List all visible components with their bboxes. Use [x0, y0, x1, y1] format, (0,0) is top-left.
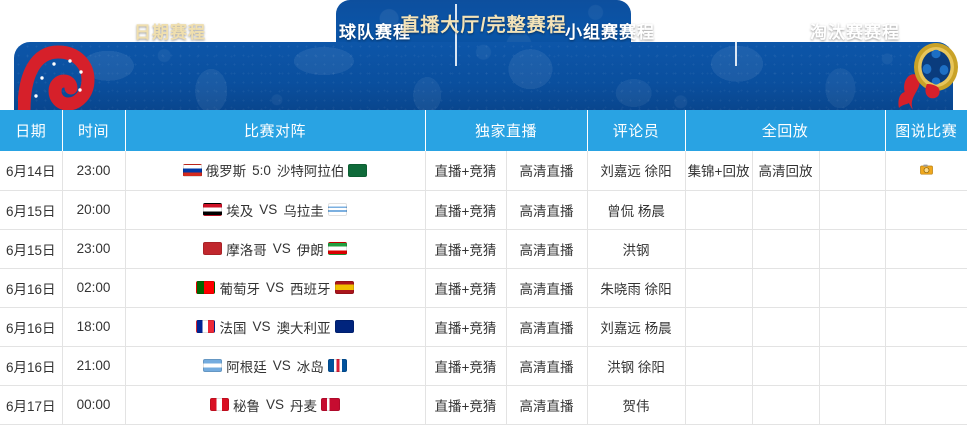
match-score: VS [257, 202, 279, 217]
cell-commentator: 洪钢 徐阳 [587, 346, 685, 385]
cell-replay-highlights-link[interactable]: 集锦+回放 [685, 151, 752, 190]
cell-commentator: 刘嘉远 杨晨 [587, 307, 685, 346]
schedule-table: 日期时间比赛对阵独家直播评论员全回放图说比赛 6月14日23:00俄罗斯5:0沙… [0, 110, 967, 425]
cell-match[interactable]: 秘鲁VS丹麦 [125, 385, 425, 424]
cell-hd-live-link[interactable]: 高清直播 [506, 190, 587, 229]
home-team-name: 葡萄牙 [219, 278, 260, 298]
cell-live-bet-link[interactable]: 直播+竞猜 [425, 229, 506, 268]
match-score: VS [271, 241, 293, 256]
cell-replay-hd-link[interactable]: 高清回放 [752, 151, 819, 190]
cell-replay-extra-link [819, 268, 885, 307]
away-team-name: 西班牙 [290, 278, 331, 298]
home-team-name: 埃及 [226, 200, 253, 220]
page-title: 直播大厅/完整赛程 [336, 10, 631, 37]
away-team-flag-icon [328, 203, 347, 216]
cell-date: 6月15日 [0, 190, 62, 229]
home-team-name: 摩洛哥 [226, 239, 267, 259]
cell-match[interactable]: 阿根廷VS冰岛 [125, 346, 425, 385]
cell-commentator: 曾侃 杨晨 [587, 190, 685, 229]
cell-replay-extra-link [819, 346, 885, 385]
cell-time: 23:00 [62, 229, 125, 268]
home-team-name: 阿根廷 [226, 356, 267, 376]
cell-replay-highlights-link [685, 229, 752, 268]
cell-match[interactable]: 葡萄牙VS西班牙 [125, 268, 425, 307]
away-team-flag-icon [321, 398, 340, 411]
cell-date: 6月14日 [0, 151, 62, 190]
table-row: 6月16日18:00法国VS澳大利亚直播+竞猜高清直播刘嘉远 杨晨 [0, 307, 967, 346]
cell-live-bet-link[interactable]: 直播+竞猜 [425, 190, 506, 229]
cell-commentator: 朱晓雨 徐阳 [587, 268, 685, 307]
world-cup-trophy-logo-icon [893, 36, 959, 110]
match-pairing: 摩洛哥VS伊朗 [126, 239, 425, 259]
away-team-name: 澳大利亚 [277, 317, 331, 337]
table-row: 6月15日23:00摩洛哥VS伊朗直播+竞猜高清直播洪钢 [0, 229, 967, 268]
cell-time: 02:00 [62, 268, 125, 307]
column-header-5: 评论员 [587, 110, 685, 151]
match-pairing: 俄罗斯5:0沙特阿拉伯 [126, 160, 425, 180]
cell-match[interactable]: 埃及VS乌拉圭 [125, 190, 425, 229]
cell-date: 6月16日 [0, 346, 62, 385]
cell-hd-live-link[interactable]: 高清直播 [506, 151, 587, 190]
cell-replay-hd-link [752, 190, 819, 229]
cell-replay-highlights-link [685, 346, 752, 385]
cell-replay-hd-link [752, 307, 819, 346]
cell-time: 23:00 [62, 151, 125, 190]
cell-photo-gallery [885, 346, 967, 385]
cell-hd-live-link[interactable]: 高清直播 [506, 346, 587, 385]
cell-date: 6月16日 [0, 307, 62, 346]
cell-match[interactable]: 摩洛哥VS伊朗 [125, 229, 425, 268]
cell-live-bet-link[interactable]: 直播+竞猜 [425, 268, 506, 307]
home-team-name: 法国 [219, 317, 246, 337]
cell-date: 6月15日 [0, 229, 62, 268]
table-body: 6月14日23:00俄罗斯5:0沙特阿拉伯直播+竞猜高清直播刘嘉远 徐阳集锦+回… [0, 151, 967, 424]
column-header-6: 全回放 [685, 110, 885, 151]
match-score: VS [250, 319, 272, 334]
away-team-name: 乌拉圭 [283, 200, 324, 220]
cell-replay-highlights-link [685, 268, 752, 307]
cell-replay-hd-link [752, 229, 819, 268]
cell-date: 6月16日 [0, 268, 62, 307]
home-team-flag-icon [183, 164, 202, 177]
table-row: 6月16日02:00葡萄牙VS西班牙直播+竞猜高清直播朱晓雨 徐阳 [0, 268, 967, 307]
home-team-flag-icon [210, 398, 229, 411]
table-header-row: 日期时间比赛对阵独家直播评论员全回放图说比赛 [0, 110, 967, 151]
cell-replay-highlights-link [685, 307, 752, 346]
match-score: VS [264, 280, 286, 295]
cell-photo-gallery [885, 190, 967, 229]
cell-hd-live-link[interactable]: 高清直播 [506, 385, 587, 424]
match-pairing: 法国VS澳大利亚 [126, 317, 425, 337]
page-banner: 直播大厅/完整赛程 日期赛程球队赛程小组赛赛程淘汰赛赛程 [0, 0, 967, 110]
match-score: VS [264, 397, 286, 412]
column-header-3: 比赛对阵 [125, 110, 425, 151]
banner-pattern-texture [14, 42, 953, 110]
match-pairing: 埃及VS乌拉圭 [126, 200, 425, 220]
away-team-name: 冰岛 [297, 356, 324, 376]
table-row: 6月17日00:00秘鲁VS丹麦直播+竞猜高清直播贺伟 [0, 385, 967, 424]
column-header-1: 日期 [0, 110, 62, 151]
home-team-flag-icon [203, 203, 222, 216]
match-pairing: 秘鲁VS丹麦 [126, 395, 425, 415]
home-team-flag-icon [203, 242, 222, 255]
away-team-flag-icon [328, 359, 347, 372]
cell-replay-hd-link [752, 268, 819, 307]
cell-photo-gallery [885, 307, 967, 346]
cell-time: 00:00 [62, 385, 125, 424]
home-team-flag-icon [203, 359, 222, 372]
cell-replay-highlights-link [685, 385, 752, 424]
cell-commentator: 刘嘉远 徐阳 [587, 151, 685, 190]
cell-replay-extra-link [819, 190, 885, 229]
schedule-page: 直播大厅/完整赛程 日期赛程球队赛程小组赛赛程淘汰赛赛程 [0, 0, 967, 435]
cell-time: 20:00 [62, 190, 125, 229]
cell-hd-live-link[interactable]: 高清直播 [506, 229, 587, 268]
red-ribbon-icon [18, 44, 138, 110]
cell-live-bet-link[interactable]: 直播+竞猜 [425, 151, 506, 190]
cell-photo-gallery [885, 385, 967, 424]
away-team-flag-icon [335, 320, 354, 333]
cell-replay-extra-link [819, 151, 885, 190]
cell-commentator: 贺伟 [587, 385, 685, 424]
cell-replay-hd-link [752, 346, 819, 385]
away-team-name: 丹麦 [290, 395, 317, 415]
cell-match[interactable]: 俄罗斯5:0沙特阿拉伯 [125, 151, 425, 190]
table-row: 6月16日21:00阿根廷VS冰岛直播+竞猜高清直播洪钢 徐阳 [0, 346, 967, 385]
away-team-flag-icon [335, 281, 354, 294]
column-header-7: 图说比赛 [885, 110, 967, 151]
cell-live-bet-link[interactable]: 直播+竞猜 [425, 307, 506, 346]
cell-match[interactable]: 法国VS澳大利亚 [125, 307, 425, 346]
away-team-flag-icon [348, 164, 367, 177]
column-header-2: 时间 [62, 110, 125, 151]
cell-hd-live-link[interactable]: 高清直播 [506, 268, 587, 307]
home-team-name: 俄罗斯 [206, 160, 247, 180]
away-team-name: 伊朗 [297, 239, 324, 259]
cell-replay-extra-link [819, 385, 885, 424]
match-score: 5:0 [250, 163, 273, 178]
match-score: VS [271, 358, 293, 373]
camera-icon[interactable] [920, 163, 933, 174]
cell-time: 21:00 [62, 346, 125, 385]
cell-commentator: 洪钢 [587, 229, 685, 268]
cell-date: 6月17日 [0, 385, 62, 424]
cell-replay-extra-link [819, 229, 885, 268]
cell-replay-hd-link [752, 385, 819, 424]
cell-live-bet-link[interactable]: 直播+竞猜 [425, 385, 506, 424]
column-header-4: 独家直播 [425, 110, 587, 151]
cell-live-bet-link[interactable]: 直播+竞猜 [425, 346, 506, 385]
nav-divider-2 [735, 4, 737, 66]
cell-replay-extra-link [819, 307, 885, 346]
cell-replay-highlights-link [685, 190, 752, 229]
away-team-name: 沙特阿拉伯 [277, 160, 345, 180]
cell-photo-gallery[interactable] [885, 151, 967, 190]
cell-hd-live-link[interactable]: 高清直播 [506, 307, 587, 346]
away-team-flag-icon [328, 242, 347, 255]
table-row: 6月14日23:00俄罗斯5:0沙特阿拉伯直播+竞猜高清直播刘嘉远 徐阳集锦+回… [0, 151, 967, 190]
cell-photo-gallery [885, 268, 967, 307]
cell-time: 18:00 [62, 307, 125, 346]
home-team-flag-icon [196, 320, 215, 333]
table-row: 6月15日20:00埃及VS乌拉圭直播+竞猜高清直播曾侃 杨晨 [0, 190, 967, 229]
match-pairing: 阿根廷VS冰岛 [126, 356, 425, 376]
home-team-flag-icon [196, 281, 215, 294]
cell-photo-gallery [885, 229, 967, 268]
home-team-name: 秘鲁 [233, 395, 260, 415]
banner-nav-strip [14, 42, 953, 110]
match-pairing: 葡萄牙VS西班牙 [126, 278, 425, 298]
